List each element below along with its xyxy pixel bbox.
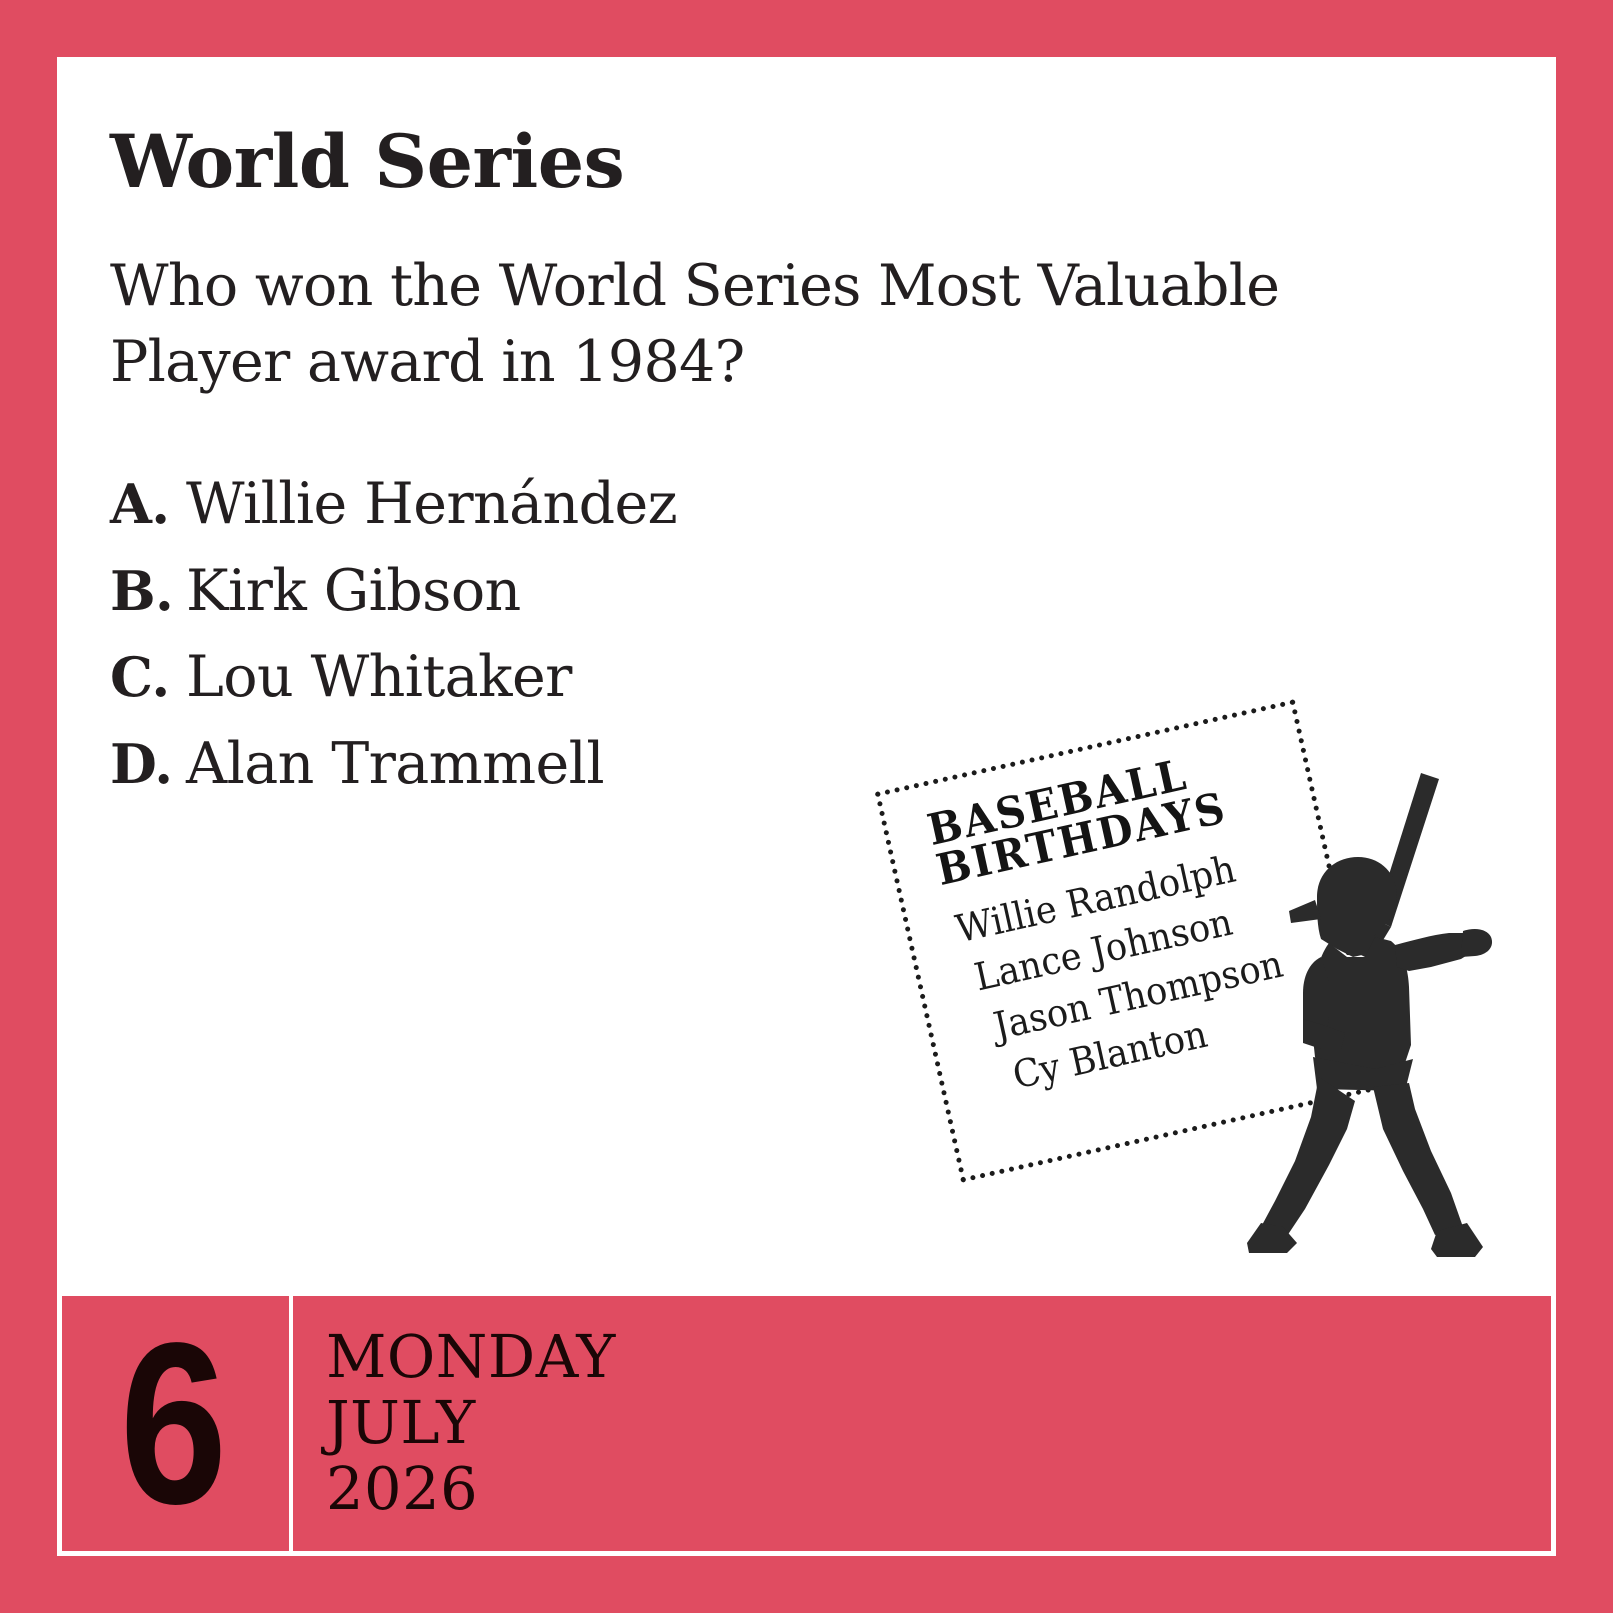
date-labels: MONDAY JULY 2026: [326, 1324, 616, 1522]
calendar-page: World Series Who won the World Series Mo…: [0, 0, 1613, 1613]
weekday-label: MONDAY: [326, 1324, 616, 1390]
trivia-content: World Series Who won the World Series Mo…: [57, 57, 1556, 1291]
answer-letter-c: C.: [110, 636, 186, 718]
answer-option-a[interactable]: A. Willie Hernández: [110, 461, 1310, 548]
answer-option-c[interactable]: C. Lou Whitaker: [110, 634, 1310, 721]
date-bar: 6 MONDAY JULY 2026: [57, 1291, 1556, 1556]
answer-text-d: Alan Trammell: [186, 721, 604, 808]
page-card: World Series Who won the World Series Mo…: [57, 57, 1556, 1556]
answer-text-c: Lou Whitaker: [186, 634, 572, 721]
answer-letter-b: B.: [110, 550, 186, 632]
day-number: 6: [80, 1329, 267, 1518]
answer-letter-d: D.: [110, 723, 186, 805]
year-label: 2026: [326, 1456, 616, 1522]
answer-letter-a: A.: [110, 463, 186, 545]
page-title: World Series: [110, 126, 624, 199]
answer-option-b[interactable]: B. Kirk Gibson: [110, 548, 1310, 635]
answer-text-b: Kirk Gibson: [186, 548, 521, 635]
baseball-batter-silhouette-icon: [1225, 757, 1515, 1257]
trivia-question: Who won the World Series Most Valuable P…: [110, 249, 1470, 401]
day-number-cell: 6: [62, 1296, 293, 1551]
month-label: JULY: [326, 1390, 616, 1456]
answer-text-a: Willie Hernández: [186, 461, 677, 548]
